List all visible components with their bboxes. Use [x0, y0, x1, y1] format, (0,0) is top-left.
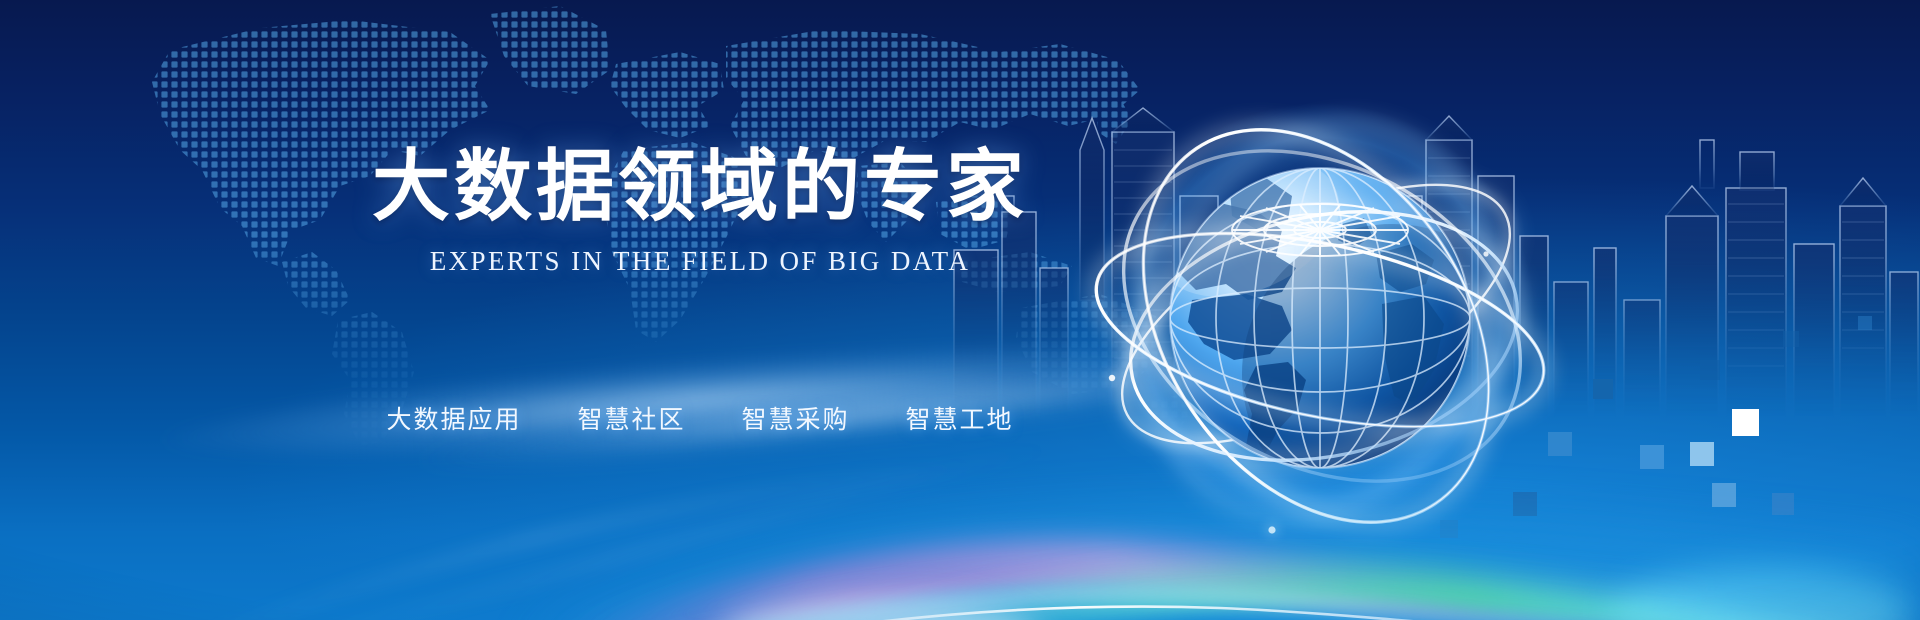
keyword-item-smart-procurement[interactable]: 智慧采购: [742, 400, 850, 436]
page-subtitle: EXPERTS IN THE FIELD OF BIG DATA: [340, 246, 1060, 277]
decorative-square: [1712, 483, 1736, 507]
decorative-square: [1858, 316, 1872, 330]
page-title: 大数据领域的专家: [340, 148, 1060, 226]
big-data-banner: 大数据领域的专家 EXPERTS IN THE FIELD OF BIG DAT…: [0, 0, 1920, 620]
scattered-squares-icon: [0, 0, 1920, 620]
decorative-square: [1593, 379, 1613, 399]
decorative-square: [1640, 445, 1664, 469]
wireframe-globe-icon: [1020, 78, 1580, 548]
keyword-item-smart-construction[interactable]: 智慧工地: [906, 400, 1014, 436]
decorative-square: [1700, 360, 1720, 380]
decorative-square: [1732, 409, 1759, 436]
vignette-overlay: [0, 0, 1920, 620]
headline-block: 大数据领域的专家 EXPERTS IN THE FIELD OF BIG DAT…: [340, 148, 1060, 277]
decorative-square: [1513, 492, 1537, 516]
decorative-square: [1548, 432, 1572, 456]
keyword-nav[interactable]: 大数据应用 智慧社区 智慧采购 智慧工地: [340, 400, 1060, 436]
decorative-square: [1690, 442, 1714, 466]
aurora-ribbon-icon: [0, 350, 1920, 620]
decorative-square: [1772, 493, 1794, 515]
keyword-item-big-data-application[interactable]: 大数据应用: [386, 400, 521, 436]
decorative-square: [1783, 331, 1799, 347]
keyword-item-smart-community[interactable]: 智慧社区: [577, 400, 685, 436]
city-skyline-icon: [940, 0, 1920, 420]
decorative-square: [1440, 520, 1458, 538]
